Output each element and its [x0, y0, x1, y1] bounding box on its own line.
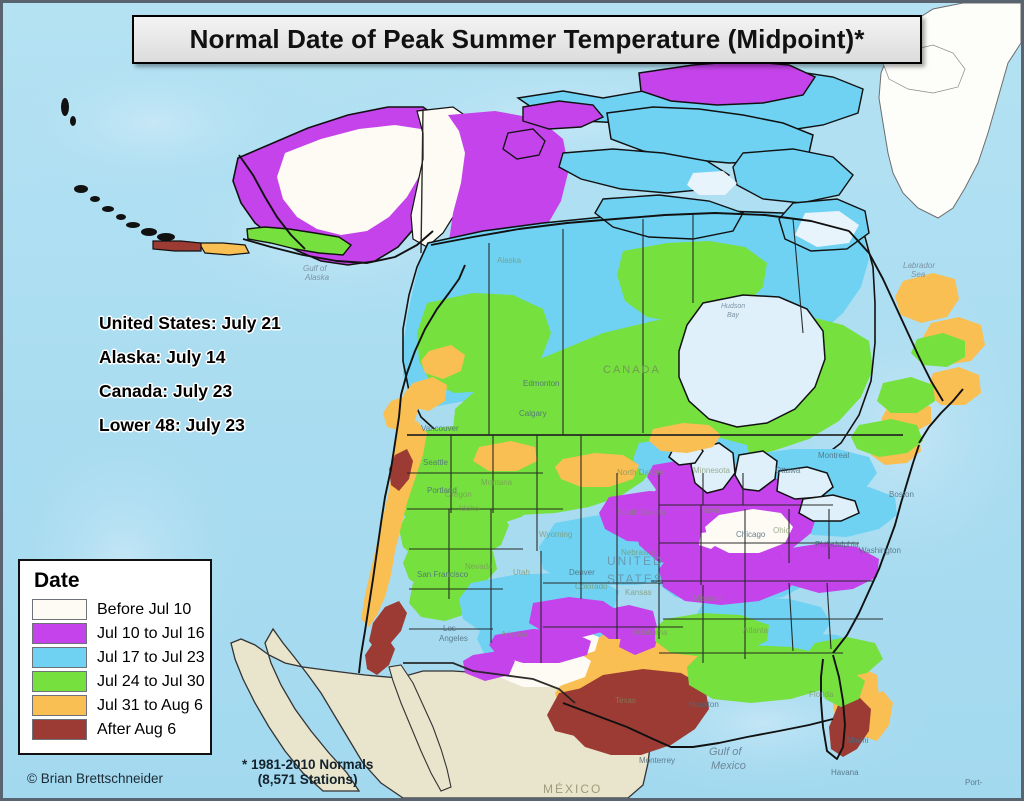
stat-canada: Canada: July 23: [99, 381, 281, 402]
legend-item-jul-24-to-jul-30[interactable]: Jul 24 to Jul 30: [32, 671, 200, 692]
svg-text:Arizona: Arizona: [501, 630, 529, 639]
svg-text:MÉXICO: MÉXICO: [543, 781, 602, 796]
map-frame: Hudson Bay: [0, 0, 1024, 801]
svg-text:Chicago: Chicago: [736, 530, 766, 539]
svg-text:Minnesota: Minnesota: [693, 466, 730, 475]
legend-item-before-jul-10[interactable]: Before Jul 10: [32, 599, 200, 620]
footnote-line-normals: * 1981-2010 Normals: [242, 757, 373, 772]
svg-text:Port-: Port-: [965, 778, 983, 787]
legend-swatch-after-aug-6: [32, 719, 87, 740]
svg-text:Monterrey: Monterrey: [639, 756, 675, 765]
svg-text:STATES: STATES: [607, 572, 664, 586]
svg-text:Missouri: Missouri: [693, 594, 723, 603]
map-legend[interactable]: Date Before Jul 10 Jul 10 to Jul 16 Jul …: [18, 559, 212, 755]
legend-item-jul-17-to-jul-23[interactable]: Jul 17 to Jul 23: [32, 647, 200, 668]
svg-text:Ohio: Ohio: [773, 526, 790, 535]
legend-item-jul-31-to-aug-6[interactable]: Jul 31 to Aug 6: [32, 695, 200, 716]
svg-text:Angeles: Angeles: [439, 634, 468, 643]
svg-text:South Dakota: South Dakota: [617, 508, 666, 517]
legend-label-jul-31-to-aug-6: Jul 31 to Aug 6: [97, 697, 203, 715]
svg-text:Mexico: Mexico: [711, 760, 746, 772]
svg-text:Washington: Washington: [859, 546, 901, 555]
map-page: Hudson Bay: [0, 0, 1024, 801]
svg-text:Denver: Denver: [569, 568, 595, 577]
svg-text:Montana: Montana: [481, 478, 513, 487]
page-title: Normal Date of Peak Summer Temperature (…: [190, 24, 865, 55]
svg-text:Seattle: Seattle: [423, 458, 448, 467]
svg-text:Havana: Havana: [831, 768, 859, 777]
svg-text:Philadelphia: Philadelphia: [815, 540, 859, 549]
svg-text:Idaho: Idaho: [459, 504, 480, 513]
copyright-notice: © Brian Brettschneider: [27, 771, 163, 786]
legend-item-after-aug-6[interactable]: After Aug 6: [32, 719, 200, 740]
svg-text:Hudson: Hudson: [721, 303, 745, 310]
svg-text:Texas: Texas: [615, 696, 636, 705]
stat-lower-48: Lower 48: July 23: [99, 415, 281, 436]
svg-text:Vancouver: Vancouver: [421, 424, 459, 433]
svg-text:Gulf of: Gulf of: [709, 746, 742, 758]
svg-text:Utah: Utah: [513, 568, 530, 577]
legend-label-jul-17-to-jul-23: Jul 17 to Jul 23: [97, 649, 205, 667]
svg-text:Nebraska: Nebraska: [621, 548, 656, 557]
svg-text:Oklahoma: Oklahoma: [631, 628, 668, 637]
footnote-line-stations: (8,571 Stations): [242, 772, 373, 787]
svg-text:Labrador: Labrador: [903, 261, 935, 270]
svg-text:San Francisco: San Francisco: [417, 570, 469, 579]
stat-alaska: Alaska: July 14: [99, 347, 281, 368]
legend-label-before-jul-10: Before Jul 10: [97, 601, 191, 619]
svg-text:Atlanta: Atlanta: [743, 626, 768, 635]
svg-text:Gulf of: Gulf of: [303, 264, 327, 273]
legend-title: Date: [34, 569, 200, 593]
svg-text:Florida: Florida: [809, 690, 834, 699]
summary-statistics: United States: July 21 Alaska: July 14 C…: [99, 313, 281, 449]
svg-text:Ottawa: Ottawa: [775, 466, 801, 475]
svg-text:Miami: Miami: [847, 736, 869, 745]
legend-swatch-jul-17-to-jul-23: [32, 647, 87, 668]
svg-text:Montreal: Montreal: [818, 451, 849, 460]
legend-label-jul-10-to-jul-16: Jul 10 to Jul 16: [97, 625, 205, 643]
svg-text:Iowa: Iowa: [703, 506, 720, 515]
legend-label-jul-24-to-jul-30: Jul 24 to Jul 30: [97, 673, 205, 691]
svg-text:Alaska: Alaska: [497, 256, 522, 265]
legend-swatch-jul-10-to-jul-16: [32, 623, 87, 644]
svg-text:Los: Los: [443, 624, 456, 633]
svg-text:North Dakota: North Dakota: [617, 468, 665, 477]
map-title-box: Normal Date of Peak Summer Temperature (…: [132, 15, 922, 64]
svg-text:CANADA: CANADA: [603, 364, 661, 376]
svg-text:Oregon: Oregon: [445, 490, 472, 499]
svg-text:Edmonton: Edmonton: [523, 379, 559, 388]
legend-swatch-jul-31-to-aug-6: [32, 695, 87, 716]
svg-text:Sea: Sea: [911, 270, 926, 279]
svg-text:Houston: Houston: [689, 700, 719, 709]
legend-label-after-aug-6: After Aug 6: [97, 721, 176, 739]
svg-text:Alaska: Alaska: [304, 273, 330, 282]
svg-text:Wyoming: Wyoming: [539, 530, 572, 539]
svg-text:Colorado: Colorado: [575, 582, 608, 591]
svg-text:Nevada: Nevada: [465, 562, 493, 571]
svg-text:Bay: Bay: [727, 312, 740, 319]
svg-text:Kansas: Kansas: [625, 588, 652, 597]
svg-text:Calgary: Calgary: [519, 409, 547, 418]
svg-text:Boston: Boston: [889, 490, 914, 499]
stat-united-states: United States: July 21: [99, 313, 281, 334]
footnote: * 1981-2010 Normals (8,571 Stations): [242, 757, 373, 787]
legend-item-jul-10-to-jul-16[interactable]: Jul 10 to Jul 16: [32, 623, 200, 644]
legend-swatch-before-jul-10: [32, 599, 87, 620]
legend-swatch-jul-24-to-jul-30: [32, 671, 87, 692]
